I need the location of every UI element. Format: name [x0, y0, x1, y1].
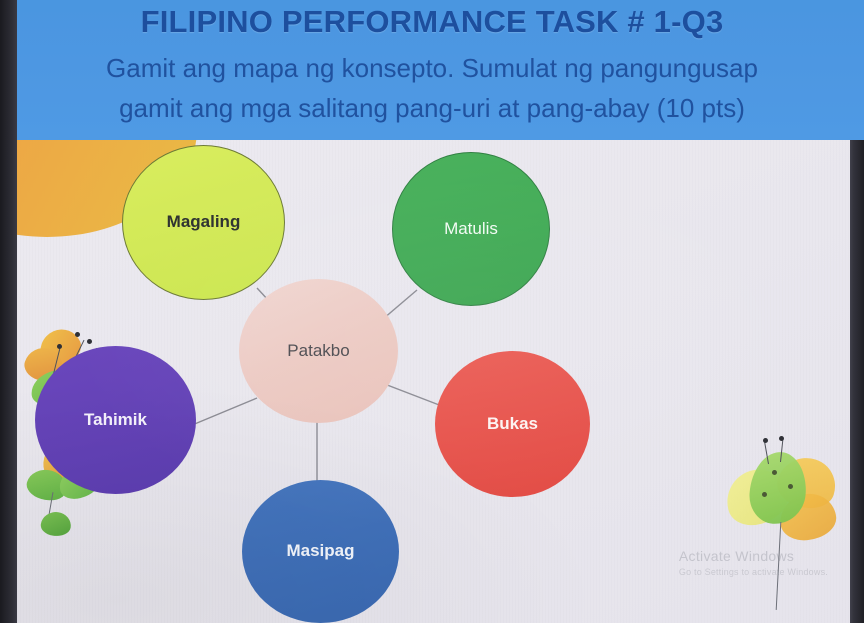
- instruction-line-1: Gamit ang mapa ng konsepto. Sumulat ng p…: [10, 53, 854, 84]
- concept-node-label: Matulis: [438, 220, 504, 239]
- slide-body: Magaling Matulis Patakbo Tahimik Bukas M…: [17, 140, 850, 623]
- concept-node-label: Tahimik: [78, 411, 153, 430]
- screenshot-root: FILIPINO PERFORMANCE TASK # 1-Q3 Gamit a…: [0, 0, 864, 623]
- concept-node-label: Magaling: [161, 213, 247, 232]
- concept-node-bukas[interactable]: Bukas: [435, 351, 590, 497]
- concept-node-label: Masipag: [280, 542, 360, 561]
- concept-node-center-patakbo[interactable]: Patakbo: [239, 279, 398, 423]
- concept-node-label: Bukas: [481, 415, 544, 434]
- concept-node-masipag[interactable]: Masipag: [242, 480, 399, 623]
- device-bezel-right: [850, 140, 864, 623]
- concept-node-tahimik[interactable]: Tahimik: [35, 346, 196, 494]
- concept-map: Magaling Matulis Patakbo Tahimik Bukas M…: [17, 140, 850, 623]
- concept-node-label: Patakbo: [281, 342, 355, 361]
- instruction-line-2: gamit ang mga salitang pang-uri at pang-…: [10, 93, 854, 124]
- concept-node-magaling[interactable]: Magaling: [122, 145, 285, 300]
- slide-header: FILIPINO PERFORMANCE TASK # 1-Q3 Gamit a…: [0, 0, 864, 140]
- concept-node-matulis[interactable]: Matulis: [392, 152, 550, 306]
- device-bezel-left: [0, 0, 17, 623]
- page-title: FILIPINO PERFORMANCE TASK # 1-Q3: [0, 4, 864, 40]
